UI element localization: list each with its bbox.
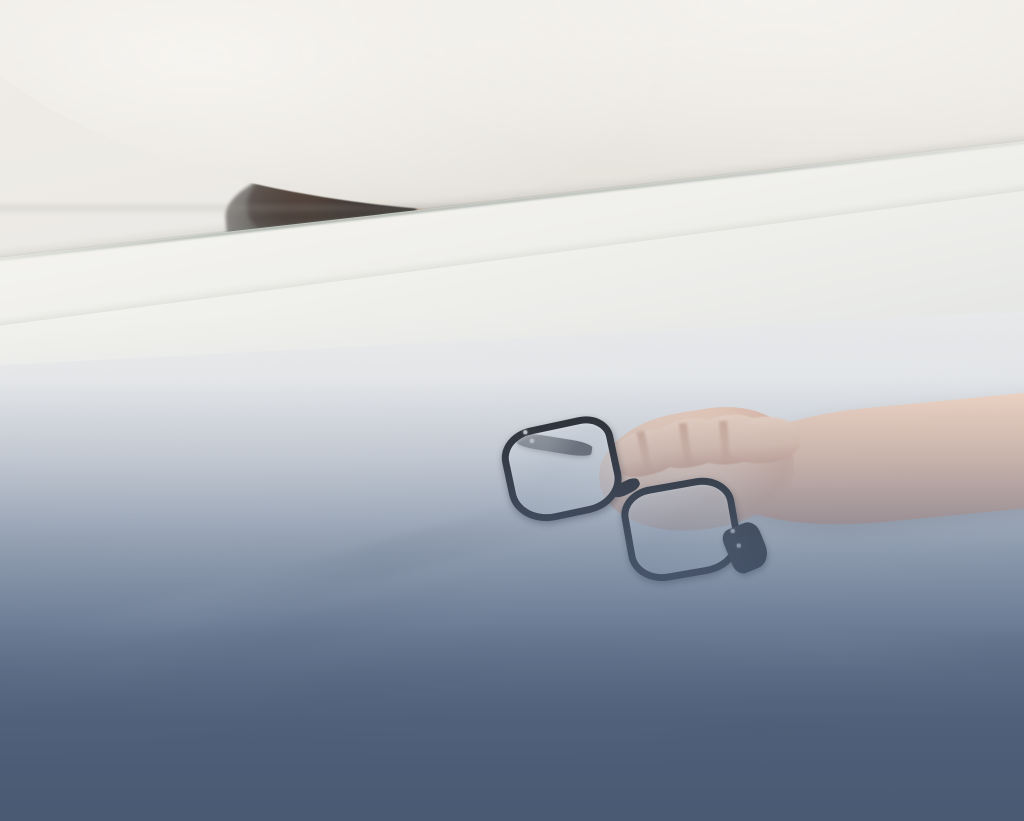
glasses-left-lens (496, 411, 628, 529)
screenshot-root: “ Blue Light Therapy may disrupt our cir… (0, 0, 1024, 821)
eyeglasses (495, 391, 827, 626)
quote-block: “ Blue Light Therapy may disrupt our cir… (0, 632, 1024, 744)
